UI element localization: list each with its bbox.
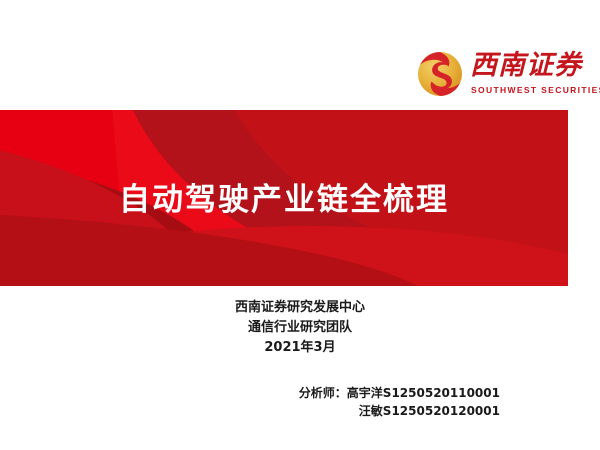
analyst-block: 分析师：高宇洋S1250520110001 汪敏S1250520120001 [0,384,500,420]
logo-company-name-en: SOUTHWEST SECURITIES [471,85,600,95]
slide-title: 自动驾驶产业链全梳理 [0,178,568,222]
analyst-line-primary: 分析师：高宇洋S1250520110001 [0,384,500,402]
organization-line-team: 通信行业研究团队 [0,318,600,338]
logo-company-name-cn: 西南证券 [470,48,582,84]
logo-wordmark: 西南证券 SOUTHWEST SECURITIES [470,48,582,100]
analyst-line-secondary: 汪敏S1250520120001 [0,402,500,420]
company-logo: 西南证券 SOUTHWEST SECURITIES [416,48,582,104]
southwest-securities-sphere-logo-icon [416,50,464,98]
presentation-title-slide: 西南证券 SOUTHWEST SECURITIES 自动驾驶产业链全梳理 西南证… [0,0,600,450]
organization-line-date: 2021年3月 [0,338,600,358]
organization-line-center: 西南证券研究发展中心 [0,298,600,318]
organization-block: 西南证券研究发展中心 通信行业研究团队 2021年3月 [0,298,600,358]
